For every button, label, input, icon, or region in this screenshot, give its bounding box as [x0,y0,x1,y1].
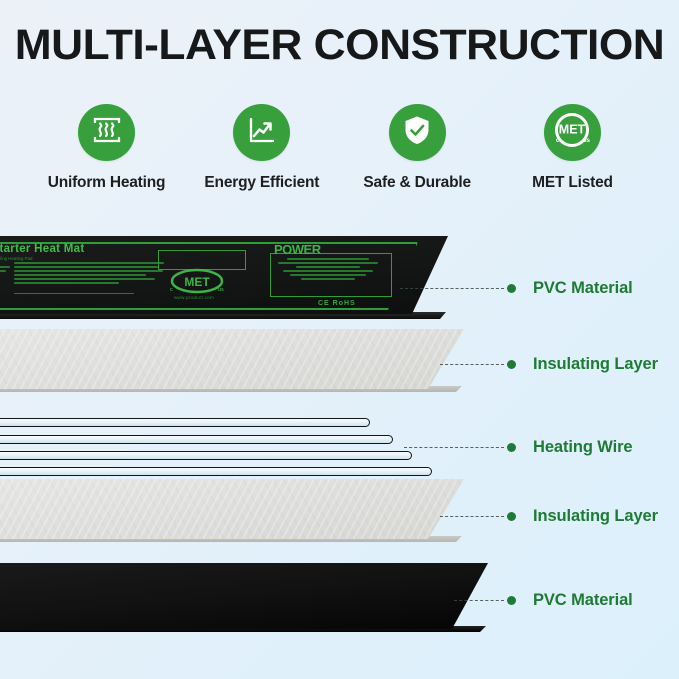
leader-line [440,516,504,517]
layer-surface [0,479,464,539]
heating-wire-strand [0,418,370,427]
mat-fineprint-block [0,266,10,274]
leader-line [440,364,504,365]
page-title: MULTI-LAYER CONSTRUCTION [0,24,679,67]
callout-label: Insulating Layer [533,355,658,374]
feature-badge-label: Energy Efficient [204,174,319,192]
mat-fineprint-block [14,293,134,297]
shield-check-icon [402,114,432,151]
leader-dot [507,443,516,452]
callout-pvc-bottom: PVC Material [454,591,633,610]
leader-line [404,447,504,448]
mat-schematic-box [158,250,246,270]
leader-line [454,600,504,601]
mat-printed-graphics: ed Starter Heat Mat Seedling Heating Pad [0,236,448,314]
callout-insulating-bottom: Insulating Layer [440,507,658,526]
layer-texture [0,329,464,389]
feature-badge-label: MET Listed [532,174,613,192]
layer-heating-wire: Heating Wire [0,414,548,474]
mat-print-power-label: POWER [274,242,321,257]
feature-badge-label: Safe & Durable [363,174,470,192]
mat-schematic-box [270,253,392,297]
mat-print-url: www.product.com [174,295,214,300]
heat-waves-icon [91,115,123,150]
layer-texture [0,479,464,539]
callout-label: PVC Material [533,279,633,298]
callout-label: PVC Material [533,591,633,610]
feature-badge-uniform-heating: Uniform Heating [34,104,179,192]
leader-dot [507,512,516,521]
mat-print-title: ed Starter Heat Mat [0,243,85,255]
leader-dot [507,360,516,369]
heating-wire-strand [0,451,412,460]
heating-wire-strand [0,435,393,444]
layer-surface [0,329,464,389]
feature-badge-energy-efficient: Energy Efficient [189,104,334,192]
mat-fineprint-block [14,262,164,286]
heating-wire-strand [0,467,432,476]
layer-surface [0,563,488,629]
layer-surface: ed Starter Heat Mat Seedling Heating Pad [0,236,448,314]
met-certification-icon: MET c us [549,107,595,158]
callout-heating-wire: Heating Wire [404,438,633,457]
svg-text:c: c [170,287,173,293]
callout-label: Insulating Layer [533,507,658,526]
mat-print-subtitle: Seedling Heating Pad [0,256,32,261]
leader-line [400,288,504,289]
feature-badge-safe-durable: Safe & Durable [345,104,490,192]
feature-badge-met-listed: MET c us MET Listed [500,104,645,192]
callout-pvc-top: PVC Material [400,279,633,298]
callout-insulating-top: Insulating Layer [440,355,658,374]
leader-dot [507,284,516,293]
met-badge-right-mark: us [583,138,591,144]
chart-arrow-up-icon [246,115,277,151]
badge-circle [233,104,290,161]
badge-circle [389,104,446,161]
svg-text:MET: MET [184,275,210,289]
callout-label: Heating Wire [533,438,633,457]
feature-badge-row: Uniform Heating Energy Efficient [34,104,645,192]
met-badge-text: MET [559,123,586,137]
badge-circle: MET c us [544,104,601,161]
mat-print-cert-marks: CE RoHS [318,300,356,307]
svg-text:us: us [218,287,224,293]
feature-badge-label: Uniform Heating [48,174,166,192]
leader-dot [507,596,516,605]
badge-circle [78,104,135,161]
infographic-canvas: MULTI-LAYER CONSTRUCTION Uniform Heating [0,0,679,679]
exploded-layer-stack: ed Starter Heat Mat Seedling Heating Pad [0,236,679,656]
